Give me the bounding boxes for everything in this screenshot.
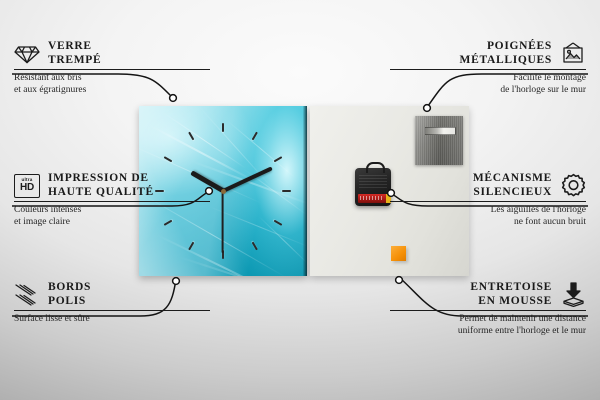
picture-hanger-icon [560,41,586,67]
polished-edge-icon [14,282,40,308]
feature-bords-polis: BORDS POLIS Surface lisse et sûre [14,281,210,326]
feature-header: MÉCANISME SILENCIEUX [390,172,586,201]
clock-tick [222,123,224,191]
feature-description: Résistant aux bris et aux égratignures [14,70,210,96]
movement-grille [359,173,387,188]
feature-description: Facilite le montage de l'horloge sur le … [390,70,586,96]
battery-label [360,196,382,200]
feature-header: BORDS POLIS [14,281,210,310]
feature-header: POIGNÉES MÉTALLIQUES [390,40,586,69]
feature-impression-haute-qualite: ultra HD IMPRESSION DE HAUTE QUALITÉ Cou… [14,172,210,228]
clock-tick [223,190,291,192]
feature-verre-trempe: VERRE TREMPÉ Résistant aux bris et aux é… [14,40,210,96]
metal-hanger-plate [415,116,463,165]
battery [358,194,388,203]
ultra-hd-icon: ultra HD [14,173,40,199]
foam-spacer [391,246,406,261]
product-infographic: VERRE TREMPÉ Résistant aux bris et aux é… [0,0,600,400]
feature-title: IMPRESSION DE HAUTE QUALITÉ [48,172,210,199]
hand-cap [221,189,226,194]
feature-mecanisme-silencieux: MÉCANISME SILENCIEUX Les aiguilles de l'… [390,172,586,228]
feature-poignees-metalliques: POIGNÉES MÉTALLIQUES Facilite le montage… [390,40,586,96]
feature-title: ENTRETOISE EN MOUSSE [390,281,552,308]
hd-text: HD [20,183,34,193]
hanger-slot [424,127,456,135]
feature-title: MÉCANISME SILENCIEUX [390,172,552,199]
feature-header: VERRE TREMPÉ [14,40,210,69]
feature-header: ENTRETOISE EN MOUSSE [390,281,586,310]
feature-title: VERRE TREMPÉ [48,40,210,67]
movement-hook [366,162,385,173]
diamond-icon [14,41,40,67]
feature-description: Couleurs intenses et image claire [14,202,210,228]
feature-title: BORDS POLIS [48,281,210,308]
feature-description: Surface lisse et sûre [14,311,210,326]
gear-icon [560,173,586,199]
second-hand [222,191,224,253]
feature-header: ultra HD IMPRESSION DE HAUTE QUALITÉ [14,172,210,201]
feature-description: Les aiguilles de l'horloge ne font aucun… [390,202,586,228]
foam-spacer-icon [560,282,586,308]
quartz-movement [355,168,391,206]
feature-description: Permet de maintenir une distance uniform… [390,311,586,337]
feature-entretoise-en-mousse: ENTRETOISE EN MOUSSE Permet de maintenir… [390,281,586,337]
feature-title: POIGNÉES MÉTALLIQUES [390,40,552,67]
